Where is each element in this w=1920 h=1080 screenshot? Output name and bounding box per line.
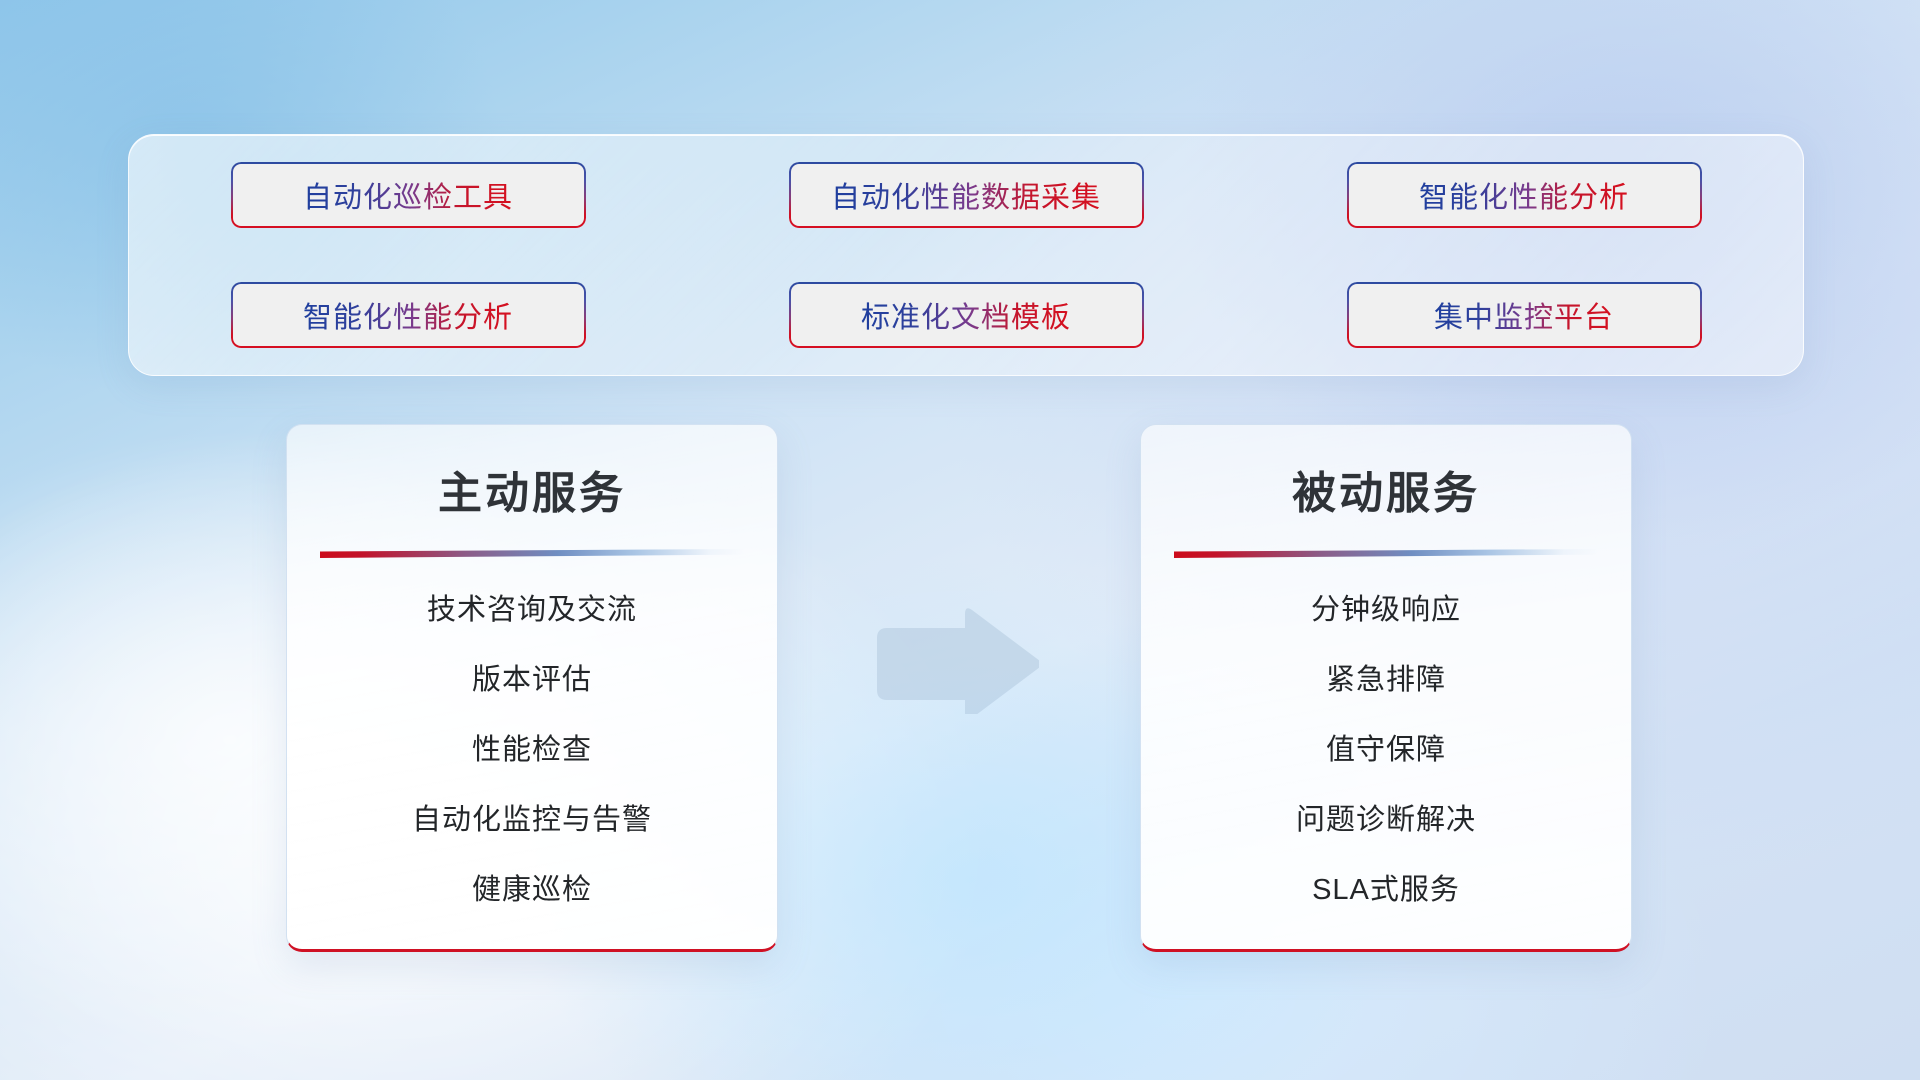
- capability-tags-panel: 自动化巡检工具 自动化性能数据采集 智能化性能分析 智能化性能分析 标准化文档模…: [128, 134, 1804, 376]
- capability-tag-label: 标准化文档模板: [861, 294, 1071, 336]
- service-item: SLA式服务: [1141, 876, 1631, 905]
- capability-tag[interactable]: 智能化性能分析: [1347, 162, 1702, 228]
- capability-tag-label: 自动化巡检工具: [303, 174, 513, 216]
- service-item: 问题诊断解决: [1141, 806, 1631, 835]
- slide-canvas: 自动化巡检工具 自动化性能数据采集 智能化性能分析 智能化性能分析 标准化文档模…: [0, 0, 1920, 1080]
- capability-tag-label: 集中监控平台: [1434, 294, 1614, 336]
- card-title: 主动服务: [287, 457, 777, 521]
- service-item: 健康巡检: [287, 876, 777, 905]
- capability-tag[interactable]: 集中监控平台: [1347, 282, 1702, 348]
- service-item: 自动化监控与告警: [287, 806, 777, 835]
- service-item: 版本评估: [287, 666, 777, 695]
- flow-arrow: [869, 608, 1039, 714]
- capability-tag-label: 智能化性能分析: [1419, 174, 1629, 216]
- service-card-reactive: 被动服务 分钟级响应 紧急排障 值守保障 问题诊断解决 SLA式服务: [1140, 424, 1632, 952]
- service-item-list: 技术咨询及交流 版本评估 性能检查 自动化监控与告警 健康巡检: [287, 596, 777, 905]
- capability-tag[interactable]: 标准化文档模板: [789, 282, 1144, 348]
- service-item-list: 分钟级响应 紧急排障 值守保障 问题诊断解决 SLA式服务: [1141, 596, 1631, 905]
- service-item: 紧急排障: [1141, 666, 1631, 695]
- capability-tag[interactable]: 自动化性能数据采集: [789, 162, 1144, 228]
- card-title-divider: [1174, 549, 1598, 558]
- capability-tag-label: 智能化性能分析: [303, 294, 513, 336]
- capability-tag[interactable]: 自动化巡检工具: [231, 162, 586, 228]
- capability-tag[interactable]: 智能化性能分析: [231, 282, 586, 348]
- card-title-divider: [320, 549, 744, 558]
- arrow-right-icon: [869, 608, 1039, 714]
- service-item: 性能检查: [287, 736, 777, 765]
- capability-tag-label: 自动化性能数据采集: [831, 174, 1101, 216]
- service-card-proactive: 主动服务 技术咨询及交流 版本评估 性能检查 自动化监控与告警 健康巡检: [286, 424, 778, 952]
- card-title: 被动服务: [1141, 457, 1631, 521]
- service-item: 技术咨询及交流: [287, 596, 777, 625]
- service-item: 分钟级响应: [1141, 596, 1631, 625]
- service-item: 值守保障: [1141, 736, 1631, 765]
